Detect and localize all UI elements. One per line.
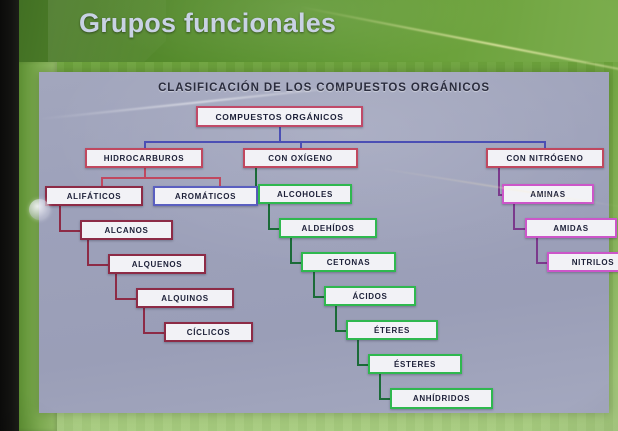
node-hidrocarburos[interactable]: HIDROCARBUROS [85, 148, 203, 168]
presentation-photo: Grupos funcionales CLASIFICACIÓN DE LOS … [0, 0, 618, 431]
connector-acidos-down [335, 306, 337, 332]
node-amidas[interactable]: AMIDAS [525, 218, 617, 238]
left-dark-edge [0, 0, 19, 431]
connector-alifaticos-down [59, 206, 61, 232]
connector-to-ciclicos [143, 332, 165, 334]
connector-to-alquinos [115, 298, 137, 300]
connector-to-alcanos [59, 230, 81, 232]
connector-alcanos-down [87, 240, 89, 266]
node-nitrilos[interactable]: NITRILOS [547, 252, 618, 272]
connector-alcoholes-down [268, 204, 270, 230]
connector-top-bus [144, 141, 544, 143]
node-alquenos[interactable]: ALQUENOS [108, 254, 206, 274]
node-alcanos[interactable]: ALCANOS [80, 220, 173, 240]
node-aromaticos[interactable]: AROMÁTICOS [153, 186, 258, 206]
node-alcoholes[interactable]: ALCOHOLES [258, 184, 352, 204]
page-title: Grupos funcionales [79, 8, 336, 39]
connector-aminas-down [513, 204, 515, 230]
node-alifaticos[interactable]: ALIFÁTICOS [45, 186, 143, 206]
projector-glare-spot [29, 199, 50, 220]
node-esteres[interactable]: ÉSTERES [368, 354, 462, 374]
node-anhidridos[interactable]: ANHÍDRIDOS [390, 388, 493, 409]
connector-amidas-down [536, 238, 538, 264]
node-alquinos[interactable]: ALQUINOS [136, 288, 234, 308]
node-ciclicos[interactable]: CÍCLICOS [164, 322, 253, 342]
node-eteres[interactable]: ÉTERES [346, 320, 438, 340]
connector-alquenos-down [115, 274, 117, 300]
node-cetonas[interactable]: CETONAS [301, 252, 396, 272]
connector-esteres-down [379, 374, 381, 400]
node-con-oxigeno[interactable]: CON OXÍGENO [243, 148, 358, 168]
node-aldehidos[interactable]: ALDEHÍDOS [279, 218, 377, 238]
node-con-nitrogeno[interactable]: CON NITRÓGENO [486, 148, 604, 168]
connector-aldehidos-down [290, 238, 292, 264]
projected-slide: CLASIFICACIÓN DE LOS COMPUESTOS ORGÁNICO… [39, 72, 609, 413]
connector-cetonas-down [313, 272, 315, 298]
connector-root-stem [279, 127, 281, 142]
connector-alquinos-down [143, 308, 145, 334]
connector-to-alquenos [87, 264, 109, 266]
connector-nitrogeno-down [498, 168, 500, 196]
connector-hidrocarburos-bus [101, 177, 221, 179]
connector-eteres-down [357, 340, 359, 366]
node-compuestos-organicos[interactable]: COMPUESTOS ORGÁNICOS [196, 106, 363, 127]
node-acidos[interactable]: ÁCIDOS [324, 286, 416, 306]
